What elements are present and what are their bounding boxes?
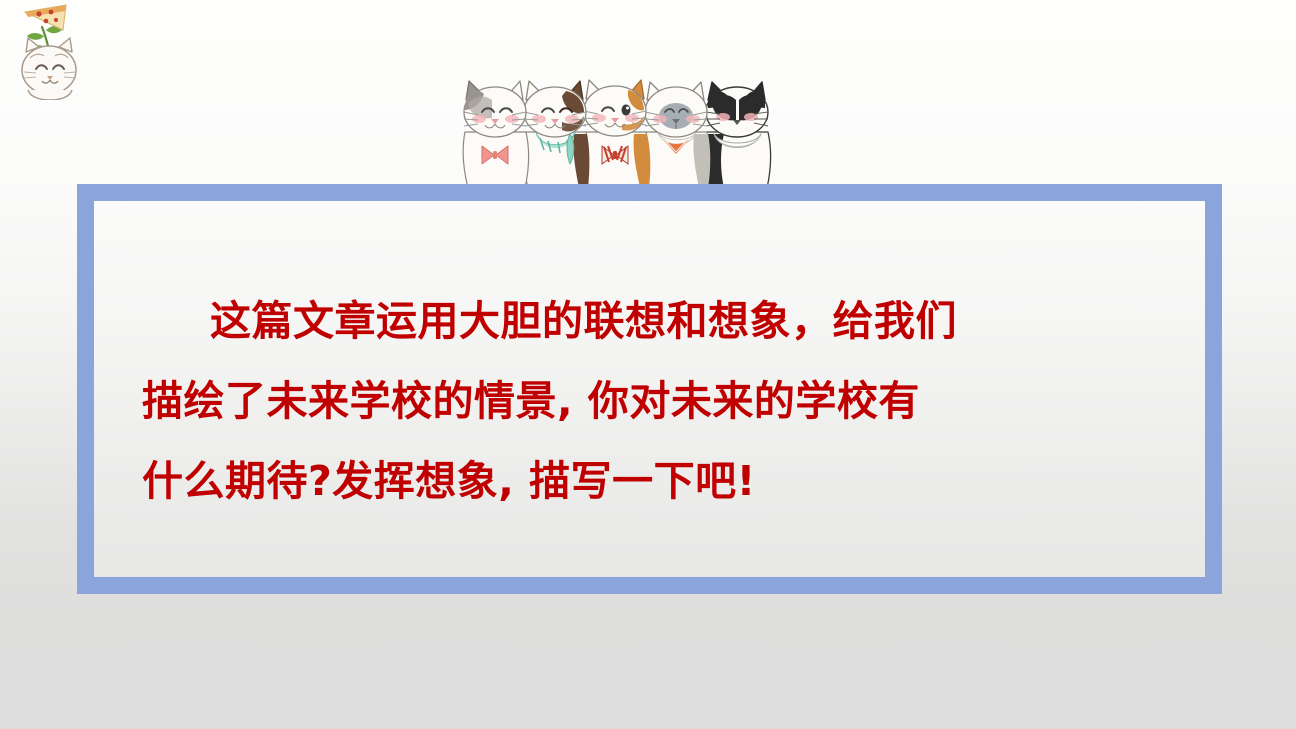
gray-white-cat	[463, 81, 528, 188]
brown-patch-cat	[523, 81, 589, 188]
question-paragraph: 这篇文章运用大胆的联想和想象，给我们 描绘了未来学校的情景, 你对未来的学校有 …	[142, 281, 1157, 521]
gray-face-cat	[644, 82, 710, 188]
tuxedo-cat	[704, 82, 770, 188]
frame-inner-area: 这篇文章运用大胆的联想和想象，给我们 描绘了未来学校的情景, 你对未来的学校有 …	[94, 201, 1205, 577]
slide-canvas: 这篇文章运用大胆的联想和想象，给我们 描绘了未来学校的情景, 你对未来的学校有 …	[0, 0, 1296, 729]
cat-with-pizza-flower-icon	[6, 0, 98, 100]
five-cats-illustration	[462, 72, 780, 188]
blue-content-frame: 这篇文章运用大胆的联想和想象，给我们 描绘了未来学校的情景, 你对未来的学校有 …	[77, 184, 1222, 594]
calico-cat	[583, 80, 650, 188]
paragraph-line-3: 什么期待?发挥想象, 描写一下吧!	[142, 441, 1157, 521]
paragraph-line-1: 这篇文章运用大胆的联想和想象，给我们	[142, 281, 1157, 361]
paragraph-line-2: 描绘了未来学校的情景, 你对未来的学校有	[142, 361, 1157, 441]
